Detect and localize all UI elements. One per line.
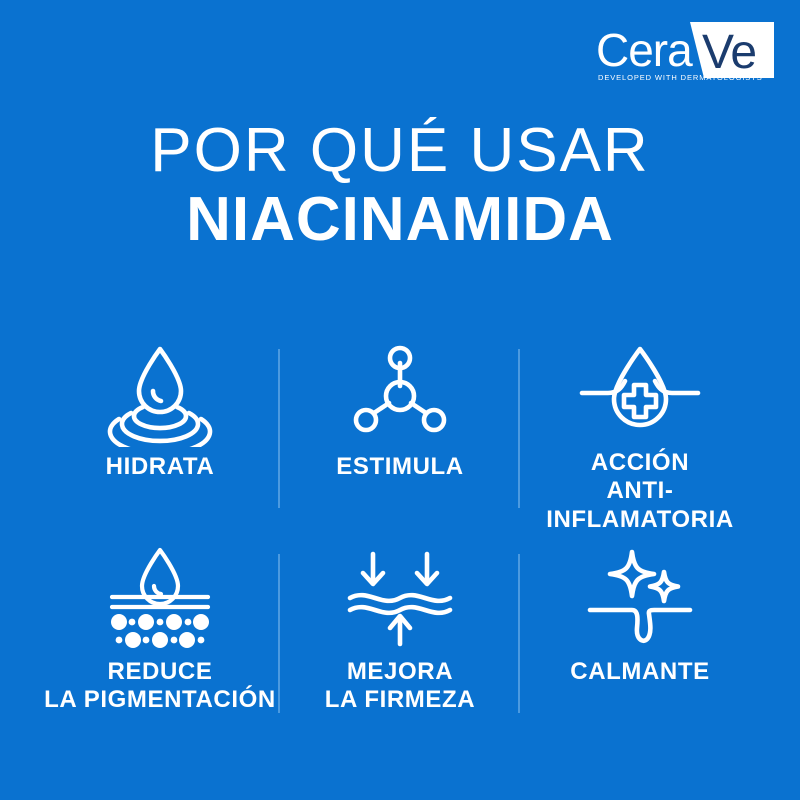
svg-text:Ve: Ve (702, 26, 756, 79)
svg-text:Cera: Cera (596, 24, 693, 76)
benefit-cell-estimula: ESTIMULA (280, 325, 520, 530)
cerave-logo: Cera Ve DEVELOPED WITH DERMATOLOGISTS (594, 22, 774, 88)
droplet-skin-pigment-dots-icon (100, 544, 220, 654)
benefit-cell-hidrata: HIDRATA (40, 325, 280, 530)
benefit-label: ACCIÓN ANTI-INFLAMATORIA (520, 449, 760, 534)
benefit-cell-reduce-pigmentacion: REDUCE LA PIGMENTACIÓN (40, 530, 280, 735)
droplet-medical-cross-icon (572, 339, 708, 445)
benefit-cell-mejora-firmeza: MEJORA LA FIRMEZA (280, 530, 520, 735)
benefit-cell-accion-anti-inflamatoria: ACCIÓN ANTI-INFLAMATORIA (520, 325, 760, 530)
molecule-icon (345, 339, 455, 449)
page-title: POR QUÉ USAR NIACINAMIDA (0, 118, 800, 256)
arrows-firmness-waves-icon (340, 544, 460, 654)
title-line-1: POR QUÉ USAR (0, 118, 800, 185)
sparkles-pore-icon (580, 544, 700, 654)
water-droplet-ripples-icon (105, 339, 215, 449)
logo-tagline: DEVELOPED WITH DERMATOLOGISTS (598, 73, 763, 82)
poster-canvas: Cera Ve DEVELOPED WITH DERMATOLOGISTS PO… (0, 0, 800, 800)
benefit-label: CALMANTE (570, 658, 709, 686)
benefit-label: REDUCE LA PIGMENTACIÓN (44, 658, 276, 715)
title-line-2: NIACINAMIDA (0, 185, 800, 256)
benefit-label: ESTIMULA (336, 453, 463, 481)
benefit-cell-calmante: CALMANTE (520, 530, 760, 735)
benefit-label: MEJORA LA FIRMEZA (325, 658, 475, 715)
benefits-grid: HIDRATA ESTIMULA (40, 325, 760, 735)
benefit-label: HIDRATA (106, 453, 215, 481)
